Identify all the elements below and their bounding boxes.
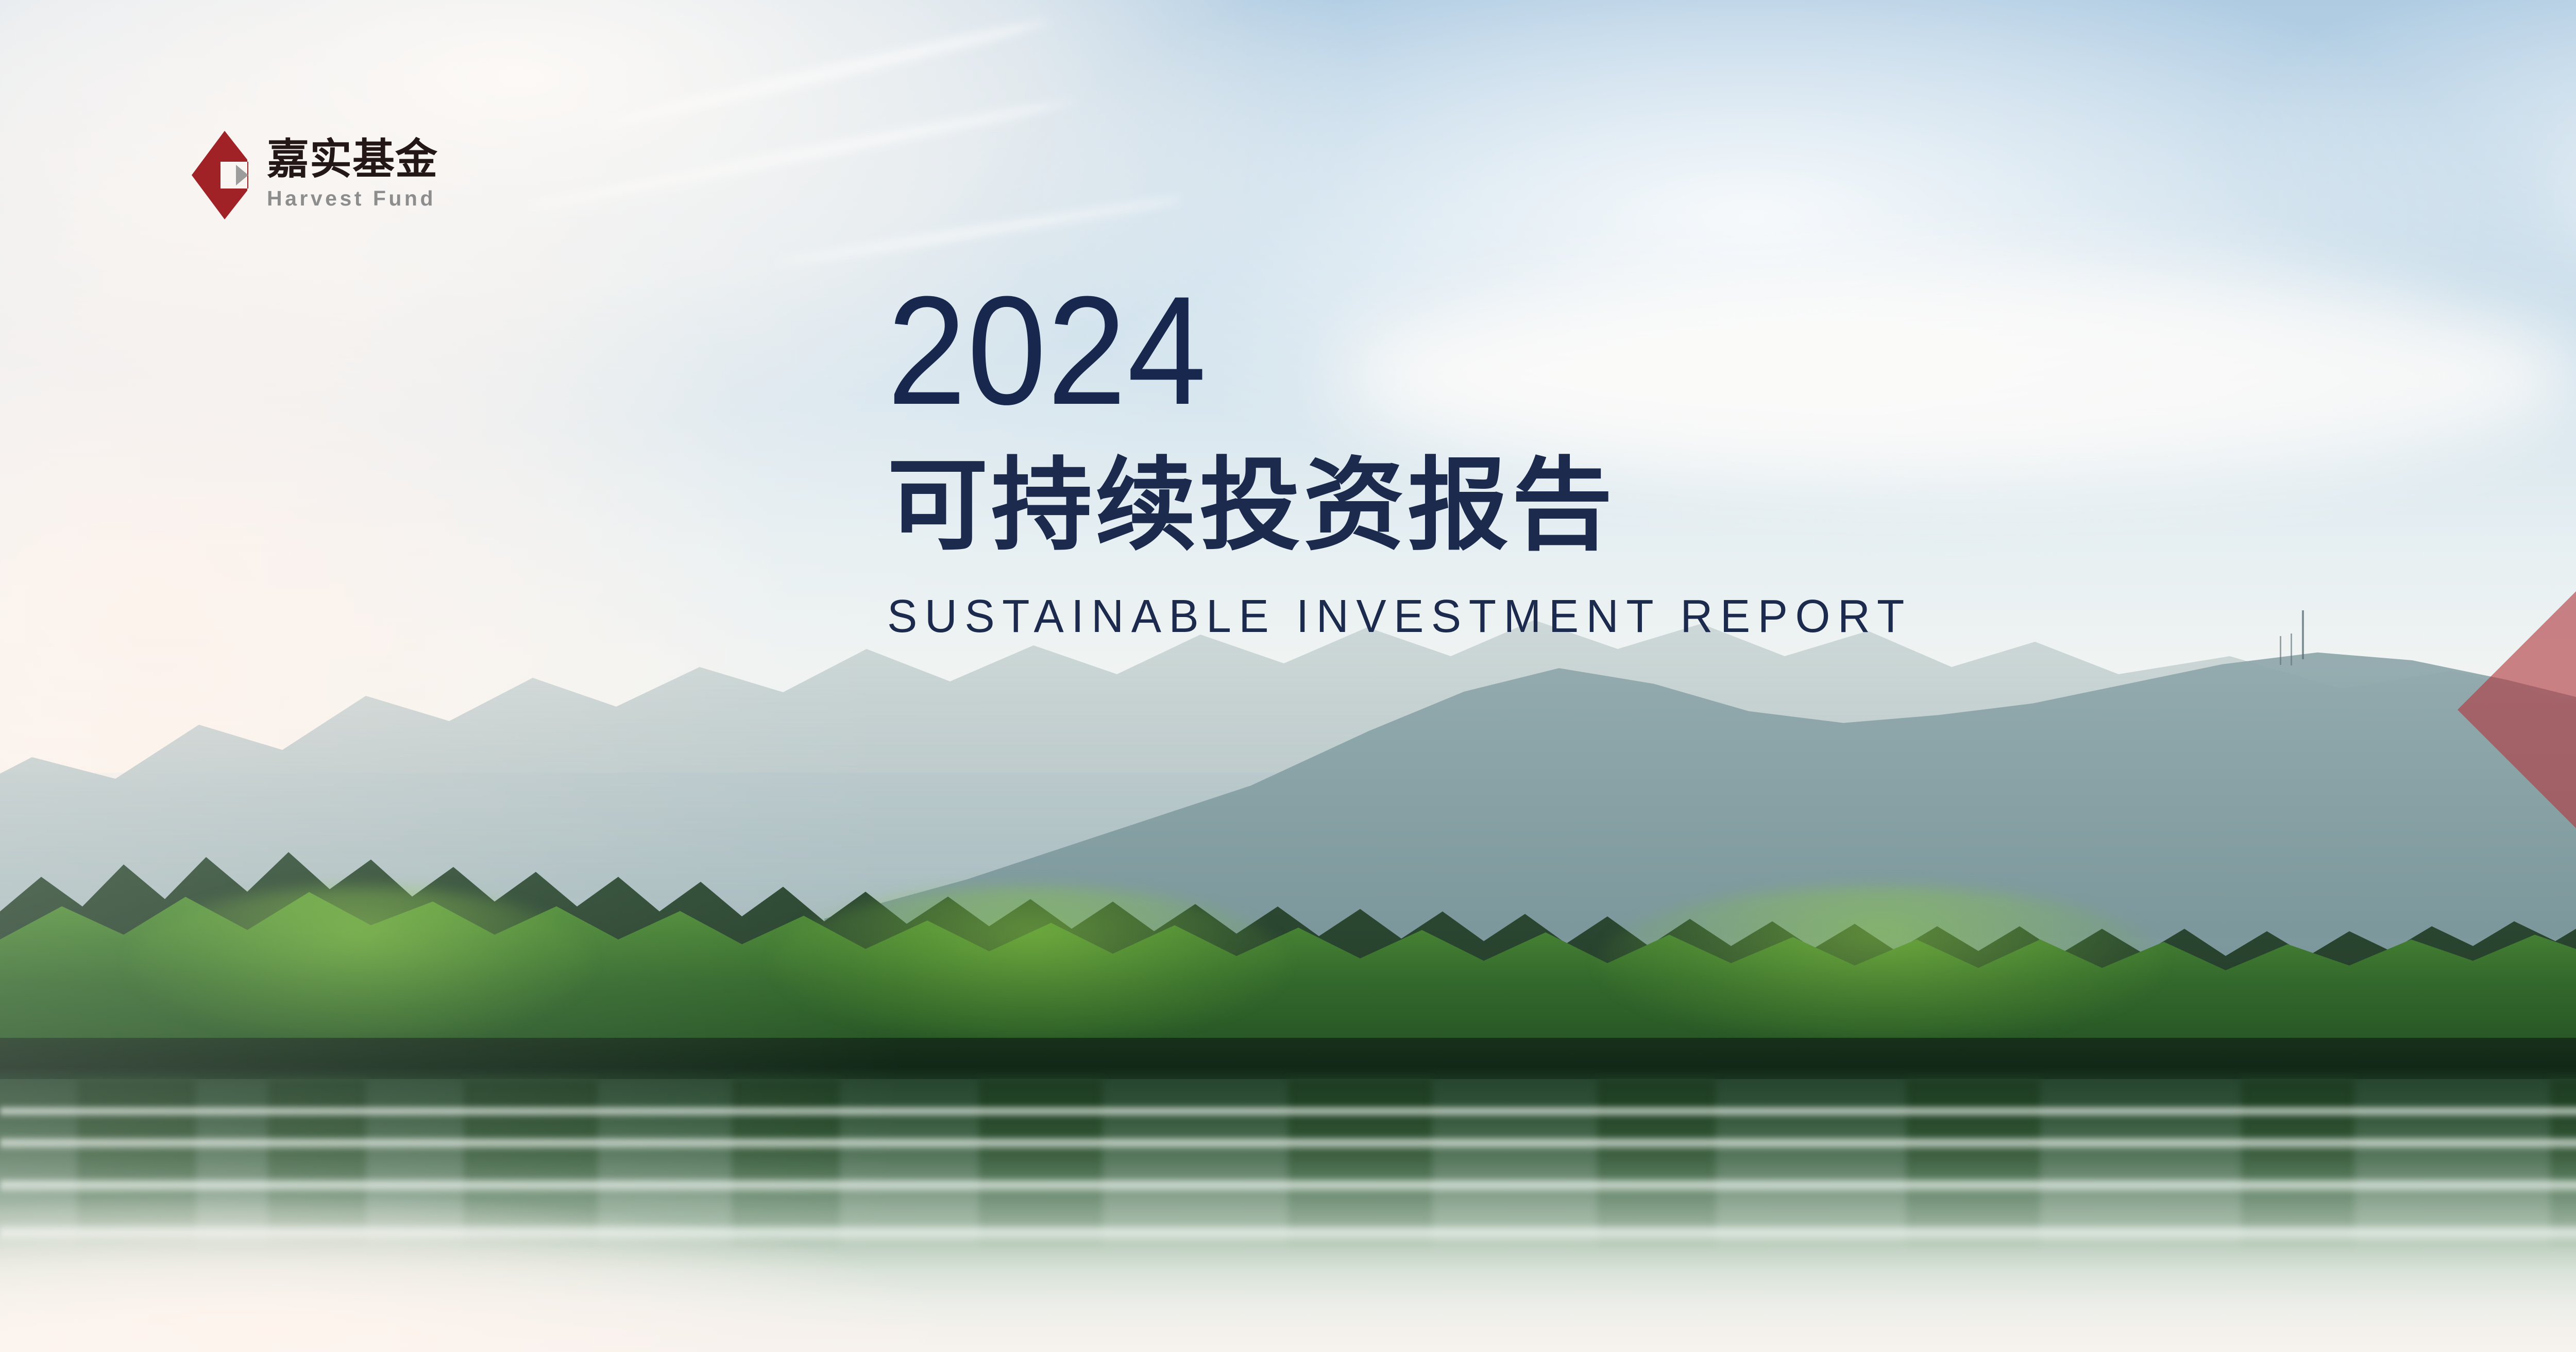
watermark-red-diamond [2458,262,2576,1113]
sunlit-canopy [129,886,592,1040]
brand-name-cn: 嘉实基金 [267,140,438,180]
report-cover: 嘉实基金 Harvest Fund 2024 可持续投资报告 SUSTAINAB… [0,0,2576,1352]
report-title-cn: 可持续投资报告 [887,455,1943,556]
logo-arrow-triangle [236,165,248,185]
water-ripple [0,1105,2576,1118]
brand-name-en: Harvest Fund [267,186,438,211]
harvest-diamond-watermark-icon [2360,237,2576,1113]
sunlit-canopy [1597,886,2164,1040]
summit-antenna-icon [2302,610,2304,659]
harvest-diamond-logo-icon [191,130,248,220]
report-title-en: SUSTAINABLE INVESTMENT REPORT [887,593,1912,640]
brand-wordmark: 嘉实基金 Harvest Fund [267,140,438,211]
water-ripple [0,1136,2576,1151]
summit-antenna-icon [2291,634,2292,665]
brand-logo: 嘉实基金 Harvest Fund [191,130,438,220]
water-warm-highlight [0,1159,1752,1352]
report-year: 2024 [887,273,1859,427]
sunlit-canopy [773,886,1288,1040]
watermark-logo-graphic [2360,237,2576,1113]
summit-antenna-icon [2280,636,2281,665]
cover-title-block: 2024 可持续投资报告 SUSTAINABLE INVESTMENT REPO… [887,273,1943,640]
